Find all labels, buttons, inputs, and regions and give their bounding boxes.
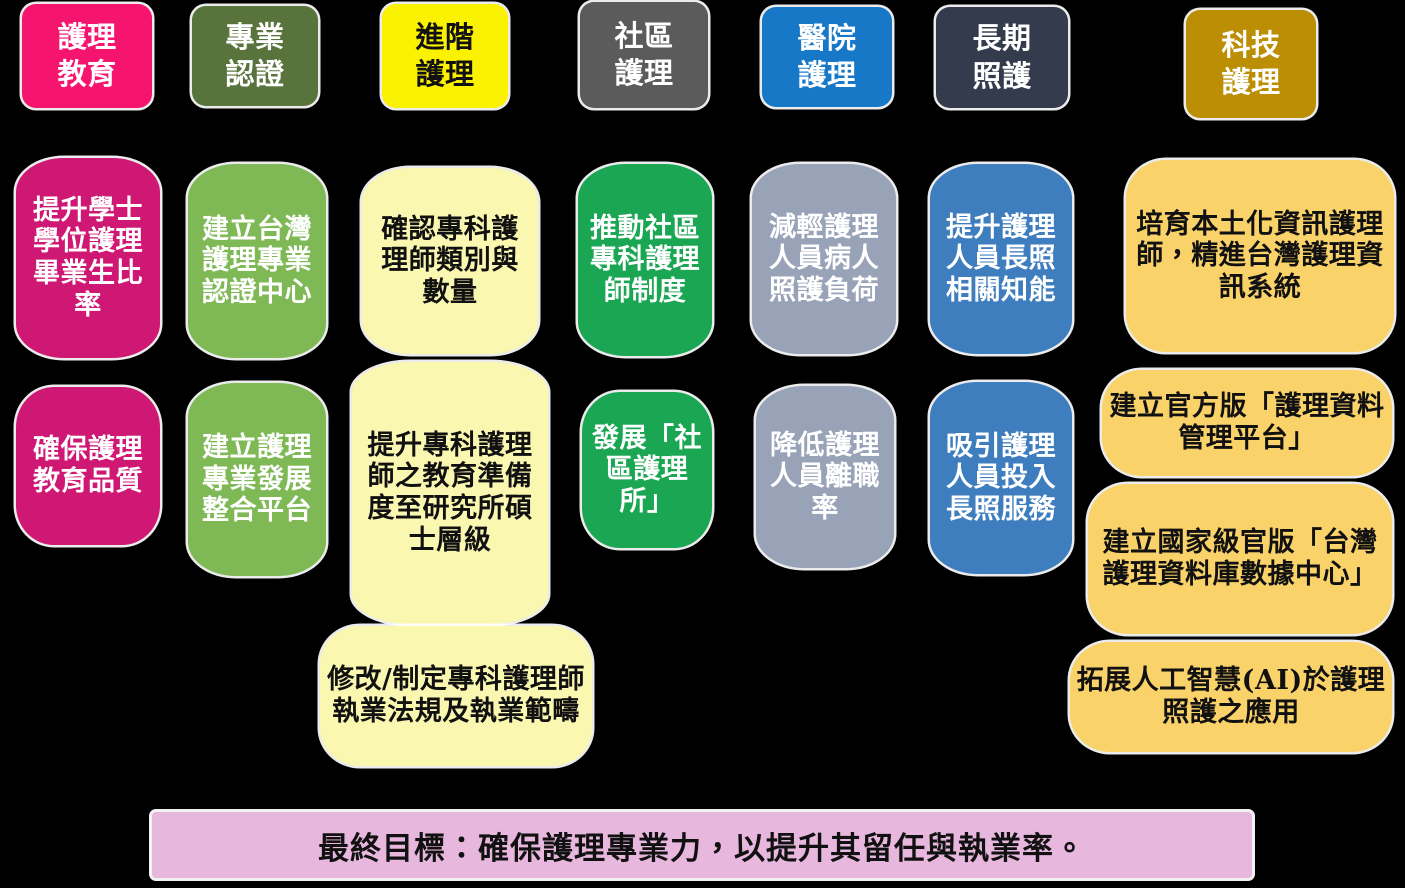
column-header-nursing-technology[interactable]: 科技護理 [1186, 10, 1316, 118]
column-header-advanced-nursing[interactable]: 進階護理 [382, 4, 508, 108]
item-professional-certification-1[interactable]: 建立護理專業發展整合平台 [188, 383, 326, 576]
diagram-canvas: 護理教育 專業認證 進階護理 社區護理 醫院護理 長期照護 科技護理 提升學士學… [0, 0, 1405, 888]
item-community-nursing-0[interactable]: 推動社區專科護理師制度 [578, 164, 712, 356]
final-goal-banner[interactable]: 最終目標：確保護理專業力，以提升其留任與執業率。 [152, 812, 1252, 878]
column-header-nursing-education[interactable]: 護理教育 [22, 4, 152, 108]
item-nursing-technology-1[interactable]: 建立官方版「護理資料管理平台」 [1102, 370, 1392, 476]
column-header-professional-certification[interactable]: 專業認證 [192, 6, 318, 106]
item-long-term-care-0[interactable]: 提升護理人員長照相關知能 [930, 164, 1072, 354]
item-nursing-education-0[interactable]: 提升學士學位護理畢業生比率 [16, 158, 160, 358]
item-nursing-technology-2[interactable]: 建立國家級官版「台灣護理資料庫數據中心」 [1088, 484, 1392, 634]
item-advanced-nursing-1[interactable]: 提升專科護理師之教育準備度至研究所碩士層級 [352, 362, 548, 624]
column-header-hospital-nursing[interactable]: 醫院護理 [762, 7, 892, 107]
item-advanced-nursing-2[interactable]: 修改/制定專科護理師執業法規及執業範疇 [320, 626, 592, 766]
column-header-long-term-care[interactable]: 長期照護 [936, 7, 1068, 108]
item-nursing-education-1[interactable]: 確保護理教育品質 [16, 387, 160, 545]
item-long-term-care-1[interactable]: 吸引護理人員投入長照服務 [930, 382, 1072, 574]
item-nursing-technology-0[interactable]: 培育本土化資訊護理師，精進台灣護理資訊系統 [1126, 160, 1394, 352]
item-nursing-technology-3[interactable]: 拓展人工智慧(AI)於護理照護之應用 [1070, 642, 1392, 752]
item-community-nursing-1[interactable]: 發展「社區護理所」 [582, 392, 712, 548]
item-hospital-nursing-1[interactable]: 降低護理人員離職率 [756, 386, 894, 568]
item-professional-certification-0[interactable]: 建立台灣護理專業認證中心 [188, 164, 326, 358]
item-hospital-nursing-0[interactable]: 減輕護理人員病人照護負荷 [752, 164, 896, 354]
column-header-community-nursing[interactable]: 社區護理 [580, 2, 708, 108]
item-advanced-nursing-0[interactable]: 確認專科護理師類別與數量 [362, 168, 538, 354]
